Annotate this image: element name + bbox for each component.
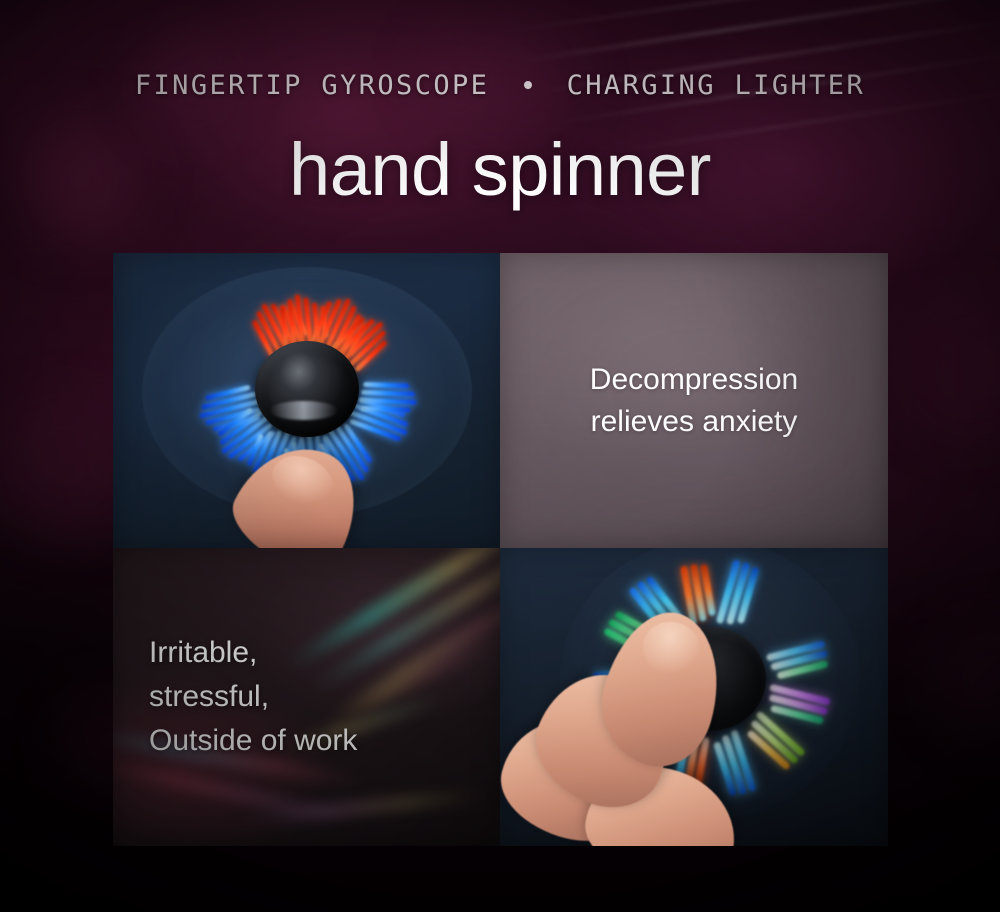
panel-decompression-text: Decompression relieves anxiety <box>500 253 888 548</box>
hand-graphic <box>500 572 816 846</box>
kicker-left-label: FINGERTIP GYROSCOPE <box>135 70 489 101</box>
decompression-caption: Decompression relieves anxiety <box>500 359 888 443</box>
page-title: hand spinner <box>0 128 1000 212</box>
caption-line: Decompression <box>524 359 864 401</box>
spinner-hub <box>255 341 359 437</box>
irritable-caption: Irritable, stressful, Outside of work <box>149 631 357 763</box>
panel-hand-spinner-photo <box>500 548 888 846</box>
kicker-line: FINGERTIP GYROSCOPE CHARGING LIGHTER <box>0 70 1000 101</box>
panel-irritable-text: Irritable, stressful, Outside of work <box>113 548 500 846</box>
kicker-right-label: CHARGING LIGHTER <box>567 70 866 101</box>
feature-grid: Decompression relieves anxiety Irritable… <box>113 253 888 846</box>
caption-line: Irritable, <box>149 631 357 675</box>
caption-line: relieves anxiety <box>524 401 864 443</box>
promo-page: FINGERTIP GYROSCOPE CHARGING LIGHTER han… <box>0 0 1000 912</box>
bullet-separator-icon <box>524 81 532 89</box>
caption-line: stressful, <box>149 675 357 719</box>
caption-line: Outside of work <box>149 719 357 763</box>
panel-spinner-led-photo <box>113 253 500 548</box>
